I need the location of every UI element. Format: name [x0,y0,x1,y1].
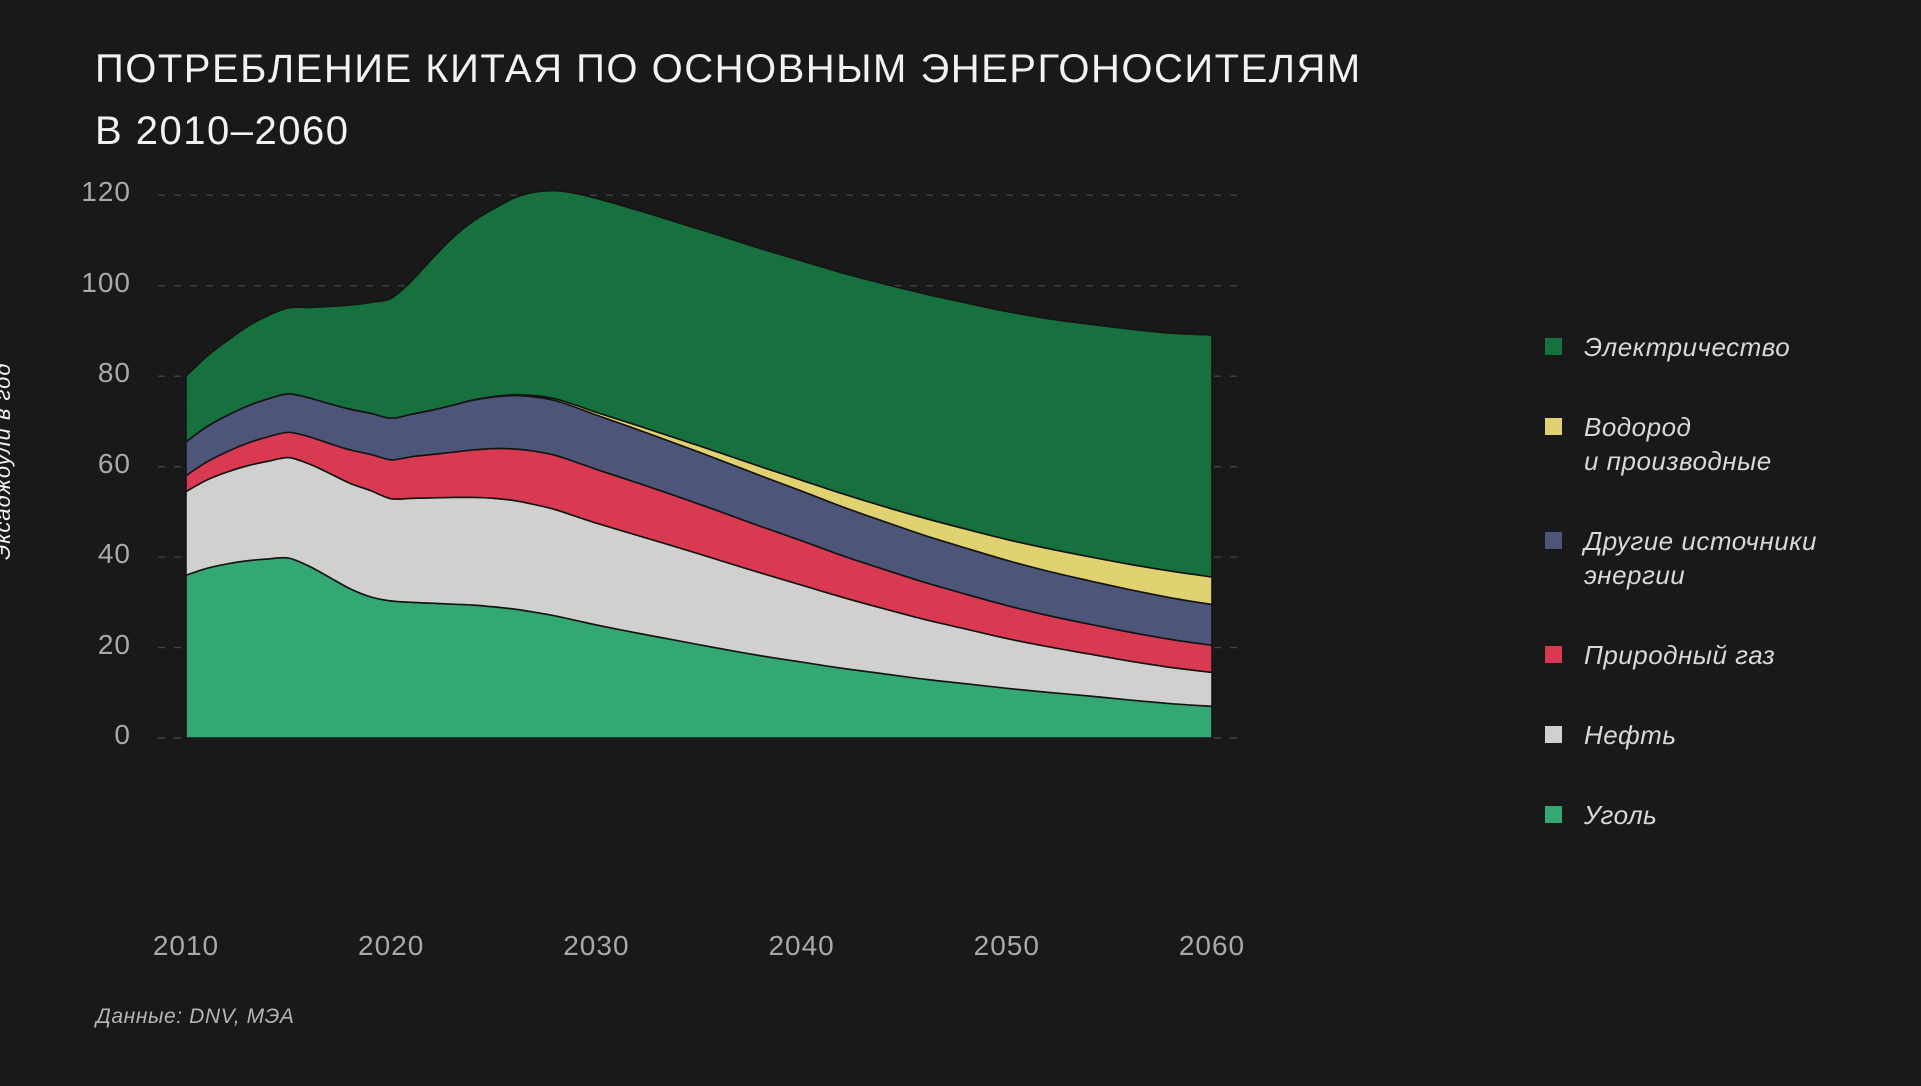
legend-item-electricity[interactable]: Электричество [1545,330,1875,364]
legend-swatch-hydrogen-icon [1545,418,1562,435]
legend-item-oil[interactable]: Нефть [1545,718,1875,752]
legend-item-hydrogen[interactable]: Водород и производные [1545,410,1875,478]
legend-swatch-gas-icon [1545,646,1562,663]
legend-swatch-other-icon [1545,532,1562,549]
chart-legend: ЭлектричествоВодород и производныеДругие… [1545,330,1875,878]
legend-label-electricity: Электричество [1584,330,1790,364]
y-tick-60: 60 [11,448,131,480]
y-tick-120: 120 [11,176,131,208]
legend-swatch-coal-icon [1545,806,1562,823]
source-note: Данные: DNV, МЭА [96,1005,295,1029]
y-tick-20: 20 [11,629,131,661]
legend-label-oil: Нефть [1584,718,1677,752]
legend-item-other[interactable]: Другие источники энергии [1545,524,1875,592]
y-tick-100: 100 [11,267,131,299]
x-tick-2020: 2020 [311,930,471,962]
x-tick-2060: 2060 [1132,930,1292,962]
legend-swatch-oil-icon [1545,726,1562,743]
legend-item-gas[interactable]: Природный газ [1545,638,1875,672]
legend-label-gas: Природный газ [1584,638,1775,672]
x-tick-2030: 2030 [516,930,676,962]
x-tick-2010: 2010 [106,930,266,962]
y-tick-40: 40 [11,538,131,570]
x-tick-2040: 2040 [722,930,882,962]
x-tick-2050: 2050 [927,930,1087,962]
legend-swatch-electricity-icon [1545,338,1562,355]
legend-item-coal[interactable]: Уголь [1545,798,1875,832]
legend-label-hydrogen: Водород и производные [1584,410,1772,478]
legend-label-other: Другие источники энергии [1584,524,1817,592]
legend-label-coal: Уголь [1584,798,1657,832]
y-tick-80: 80 [11,357,131,389]
y-tick-0: 0 [11,719,131,751]
